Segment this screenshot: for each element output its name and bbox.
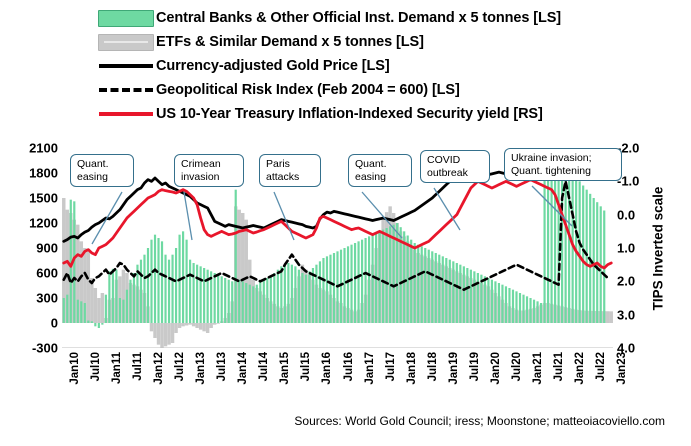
callout-covid-outbreak: COVID outbreak bbox=[420, 150, 490, 183]
callout-ukraine-invasion: Ukraine invasion; Quant. tightening bbox=[504, 148, 622, 181]
x-axis-tick: Jul11 bbox=[132, 352, 144, 381]
left-axis-tick: -300 bbox=[8, 341, 58, 356]
legend-label-gold-price: Currency-adjusted Gold Price [LS] bbox=[156, 58, 390, 74]
black-dashed-line-swatch-icon bbox=[96, 78, 156, 102]
x-axis-tick: Jul14 bbox=[258, 352, 270, 381]
x-axis-tick: Jan20 bbox=[490, 352, 502, 385]
legend-item-gpr: Geopolitical Risk Index (Feb 2004 = 600)… bbox=[96, 78, 616, 102]
x-axis-tick: Jan18 bbox=[406, 352, 418, 385]
x-axis-tick: Jul18 bbox=[427, 352, 439, 381]
left-axis-tick: 1200 bbox=[8, 216, 58, 231]
x-axis-tick: Jan13 bbox=[195, 352, 207, 385]
chart-legend: Central Banks & Other Official Inst. Dem… bbox=[96, 6, 616, 126]
x-axis-tick: Jan23 bbox=[616, 352, 628, 385]
legend-item-central-banks: Central Banks & Other Official Inst. Dem… bbox=[96, 6, 616, 30]
x-axis-tick: Jul15 bbox=[300, 352, 312, 381]
x-axis-tick: Jan15 bbox=[279, 352, 291, 385]
x-axis-labels: Jan10Jul10Jan11Jul11Jan12Jul12Jan13Jul13… bbox=[62, 352, 613, 408]
source-note: Sources: World Gold Council; iress; Moon… bbox=[0, 414, 665, 428]
x-axis-tick: Jul17 bbox=[385, 352, 397, 381]
x-axis-tick: Jan21 bbox=[532, 352, 544, 385]
x-axis-tick: Jul19 bbox=[469, 352, 481, 381]
left-axis-tick: 2100 bbox=[8, 141, 58, 156]
left-axis-tick: 1500 bbox=[8, 191, 58, 206]
x-axis-tick: Jan10 bbox=[69, 352, 81, 385]
left-axis-tick: 0 bbox=[8, 316, 58, 331]
left-axis-tick: 600 bbox=[8, 266, 58, 281]
legend-label-etfs: ETFs & Similar Demand x 5 tonnes [LS] bbox=[156, 34, 424, 50]
legend-label-central-banks: Central Banks & Other Official Inst. Dem… bbox=[156, 10, 561, 26]
x-axis-tick: Jul20 bbox=[511, 352, 523, 381]
x-axis-tick: Jul22 bbox=[595, 352, 607, 381]
legend-item-gold-price: Currency-adjusted Gold Price [LS] bbox=[96, 54, 616, 78]
x-axis-tick: Jul16 bbox=[343, 352, 355, 381]
x-axis-tick: Jul10 bbox=[90, 352, 102, 381]
x-axis-tick: Jan11 bbox=[111, 352, 123, 384]
left-axis-tick: 900 bbox=[8, 241, 58, 256]
legend-item-etfs: ETFs & Similar Demand x 5 tonnes [LS] bbox=[96, 30, 616, 54]
x-axis-tick: Jan16 bbox=[321, 352, 333, 385]
callout-quant-easing-1: Quant. easing bbox=[70, 154, 134, 187]
x-axis-tick: Jan19 bbox=[448, 352, 460, 385]
x-axis-tick: Jul13 bbox=[216, 352, 228, 381]
red-line-swatch-icon bbox=[96, 102, 156, 126]
legend-label-gpr: Geopolitical Risk Index (Feb 2004 = 600)… bbox=[156, 82, 460, 98]
x-axis-tick: Jul21 bbox=[553, 352, 565, 381]
x-axis-tick: Jan17 bbox=[364, 352, 376, 385]
x-axis-tick: Jul12 bbox=[174, 352, 186, 381]
left-axis-ticks: 21001800150012009006003000-300 bbox=[4, 148, 58, 348]
left-axis-tick: 300 bbox=[8, 291, 58, 306]
x-axis-tick: Jan22 bbox=[574, 352, 586, 385]
right-axis-title: TIPS Inverted scale bbox=[648, 148, 668, 348]
legend-item-tips: US 10-Year Treasury Inflation-Indexed Se… bbox=[96, 102, 616, 126]
left-axis-tick: 1800 bbox=[8, 166, 58, 181]
legend-label-tips: US 10-Year Treasury Inflation-Indexed Se… bbox=[156, 106, 543, 122]
x-axis-tick: Jan12 bbox=[153, 352, 165, 385]
black-line-swatch-icon bbox=[96, 54, 156, 78]
right-axis-title-text: TIPS Inverted scale bbox=[651, 186, 666, 310]
green-bar-swatch-icon bbox=[96, 6, 156, 30]
callout-paris-attacks: Paris attacks bbox=[259, 154, 321, 187]
x-axis-tick: Jan14 bbox=[237, 352, 249, 385]
gray-bar-swatch-icon bbox=[96, 30, 156, 54]
callout-quant-easing-2: Quant. easing bbox=[348, 154, 412, 187]
callout-crimean-invasion: Crimean invasion bbox=[174, 154, 244, 187]
